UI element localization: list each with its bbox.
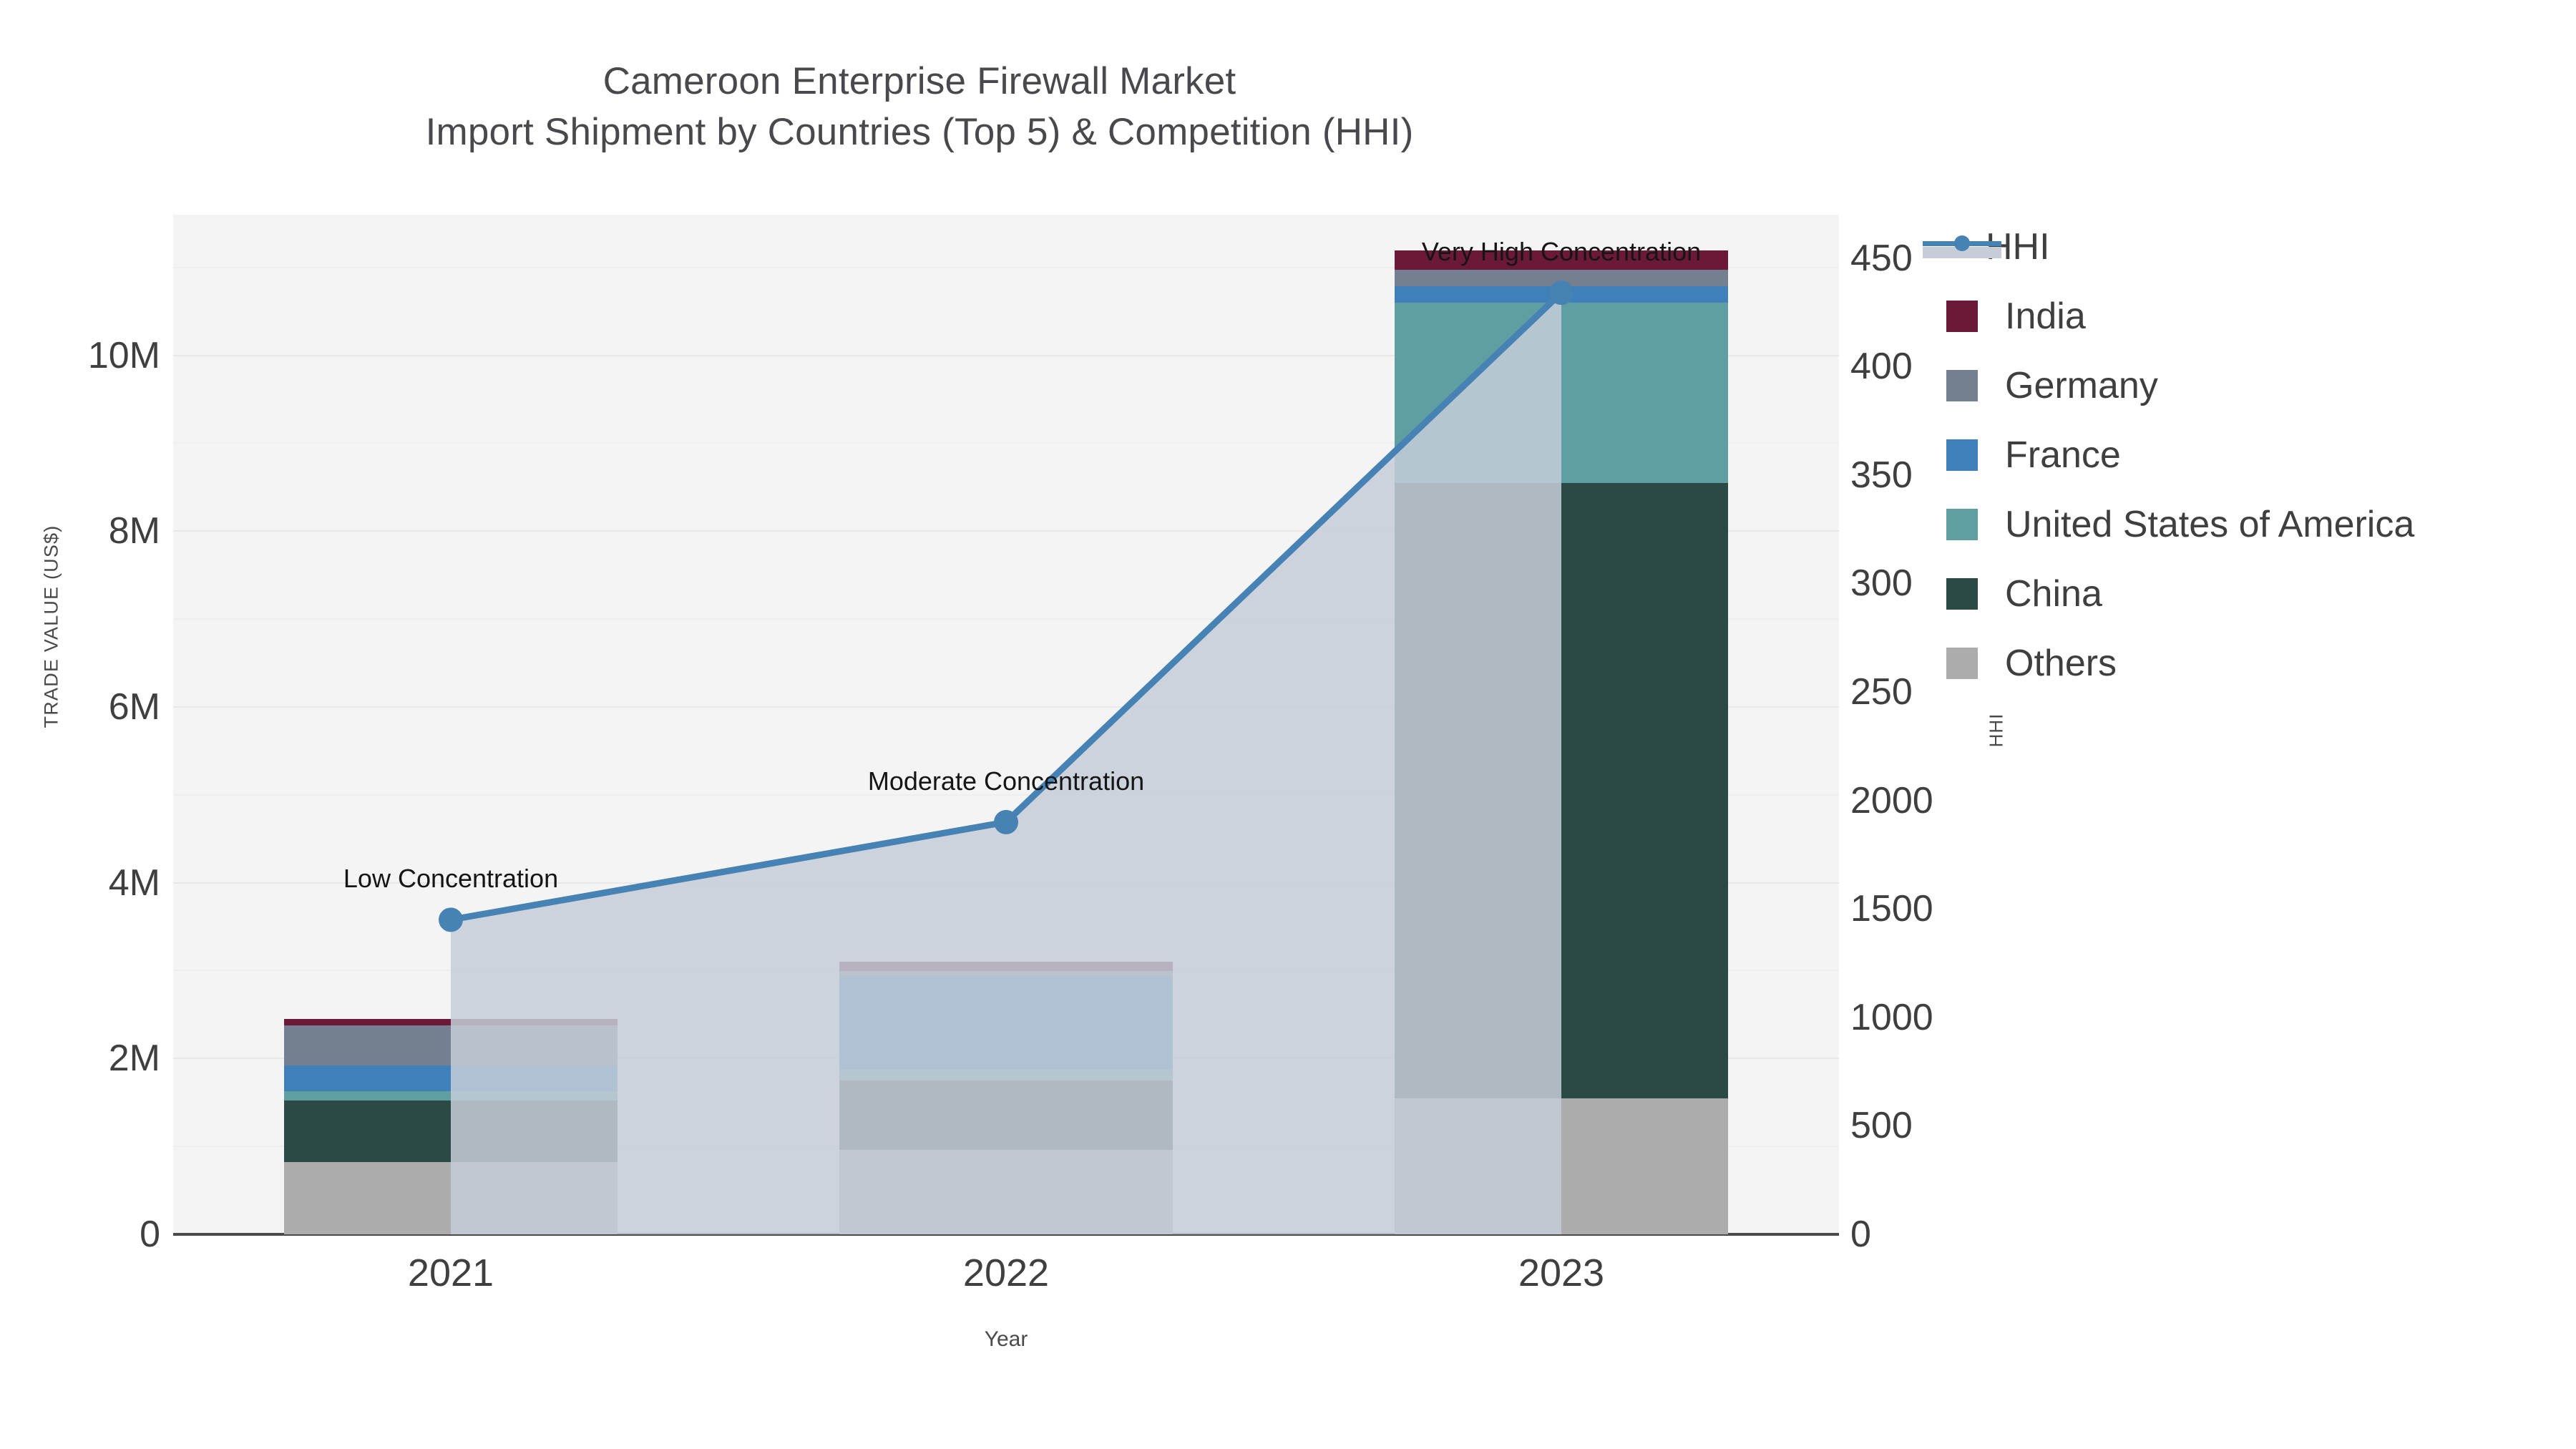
y-axis-left-tick: 0 xyxy=(140,1213,160,1256)
bar-segment[interactable] xyxy=(1395,286,1728,303)
y-axis-right-tick: 300 xyxy=(1850,562,1913,605)
y-axis-right-tick: 250 xyxy=(1850,670,1913,713)
bar-segment[interactable] xyxy=(839,977,1173,1070)
bar-segment[interactable] xyxy=(284,1162,618,1234)
legend-item[interactable]: France xyxy=(1946,436,2562,474)
legend-item[interactable]: China xyxy=(1946,575,2562,613)
bar-segment[interactable] xyxy=(284,1101,618,1162)
bar-segment[interactable] xyxy=(839,1070,1173,1080)
y-axis-right-tick: 2000 xyxy=(1850,779,1933,822)
hhi-annotation-label: Very High Concentration xyxy=(1422,237,1701,267)
bar-segment[interactable] xyxy=(839,1150,1173,1234)
y-axis-right-tick: 0 xyxy=(1850,1213,1871,1256)
y-axis-left-ticks: 02M4M6M8M10M xyxy=(0,0,162,1449)
bar-segment[interactable] xyxy=(284,1025,618,1066)
legend-item[interactable]: Germany xyxy=(1946,366,2562,404)
y-axis-left-title: TRADE VALUE (US$) xyxy=(41,519,63,734)
y-axis-right-tick: 350 xyxy=(1850,454,1913,497)
x-axis-tick: 2023 xyxy=(1518,1251,1604,1295)
x-axis-tick: 2021 xyxy=(408,1251,494,1295)
bar-segment[interactable] xyxy=(839,971,1173,977)
bar-segment[interactable] xyxy=(839,1080,1173,1150)
y-axis-right-tick: 450 xyxy=(1850,237,1913,280)
legend-item-label: China xyxy=(2005,572,2102,615)
bar-segment[interactable] xyxy=(284,1091,618,1101)
bar-segment[interactable] xyxy=(1395,483,1728,1098)
page-subtitle: Import Shipment by Countries (Top 5) & C… xyxy=(0,107,1839,157)
legend-color-swatch xyxy=(1946,578,1978,610)
hhi-annotation-label: Low Concentration xyxy=(343,864,558,894)
y-axis-left-tick: 6M xyxy=(109,686,160,728)
hhi-annotation-label: Moderate Concentration xyxy=(868,766,1144,796)
chart-title-block: Cameroon Enterprise Firewall Market Impo… xyxy=(0,56,1839,157)
bar-segment[interactable] xyxy=(1395,303,1728,483)
y-axis-left-tick: 2M xyxy=(109,1037,160,1080)
y-axis-left-tick: 10M xyxy=(88,334,160,377)
bar-segment[interactable] xyxy=(284,1065,618,1091)
legend-item-label: France xyxy=(2005,434,2121,477)
legend-item-label: Germany xyxy=(2005,364,2158,407)
legend-item-label: India xyxy=(2005,295,2086,338)
y-axis-right-ticks: 0500100015002000250300350400450 xyxy=(1850,0,2079,1449)
legend-color-swatch xyxy=(1946,648,1978,679)
y-axis-right-tick: 1500 xyxy=(1850,887,1933,930)
bar-segment[interactable] xyxy=(839,962,1173,972)
legend-item[interactable]: India xyxy=(1946,297,2562,335)
legend-item-label: Others xyxy=(2005,642,2117,685)
legend: HHIIndiaGermanyFranceUnited States of Am… xyxy=(1946,228,2562,713)
bar-segment[interactable] xyxy=(1395,270,1728,286)
x-axis-tick: 2022 xyxy=(963,1251,1049,1295)
y-axis-left-tick: 8M xyxy=(109,509,160,552)
legend-item[interactable]: Others xyxy=(1946,644,2562,682)
legend-line-marker-icon xyxy=(1923,231,2001,263)
x-axis-title: Year xyxy=(173,1327,1839,1352)
legend-color-swatch xyxy=(1946,301,1978,332)
legend-color-swatch xyxy=(1946,439,1978,471)
legend-color-swatch xyxy=(1946,370,1978,401)
legend-item[interactable]: HHI xyxy=(1946,228,2562,265)
legend-item[interactable]: United States of America xyxy=(1946,505,2562,543)
y-axis-right-tick: 1000 xyxy=(1850,996,1933,1039)
page-title: Cameroon Enterprise Firewall Market xyxy=(0,56,1839,107)
y-axis-right-tick: 500 xyxy=(1850,1104,1913,1147)
bar-segment[interactable] xyxy=(284,1019,618,1025)
bar-segment[interactable] xyxy=(1395,1098,1728,1234)
legend-item-label: United States of America xyxy=(2005,503,2414,546)
y-axis-right-tick: 400 xyxy=(1850,345,1913,388)
legend-color-swatch xyxy=(1946,509,1978,540)
y-axis-left-tick: 4M xyxy=(109,862,160,904)
